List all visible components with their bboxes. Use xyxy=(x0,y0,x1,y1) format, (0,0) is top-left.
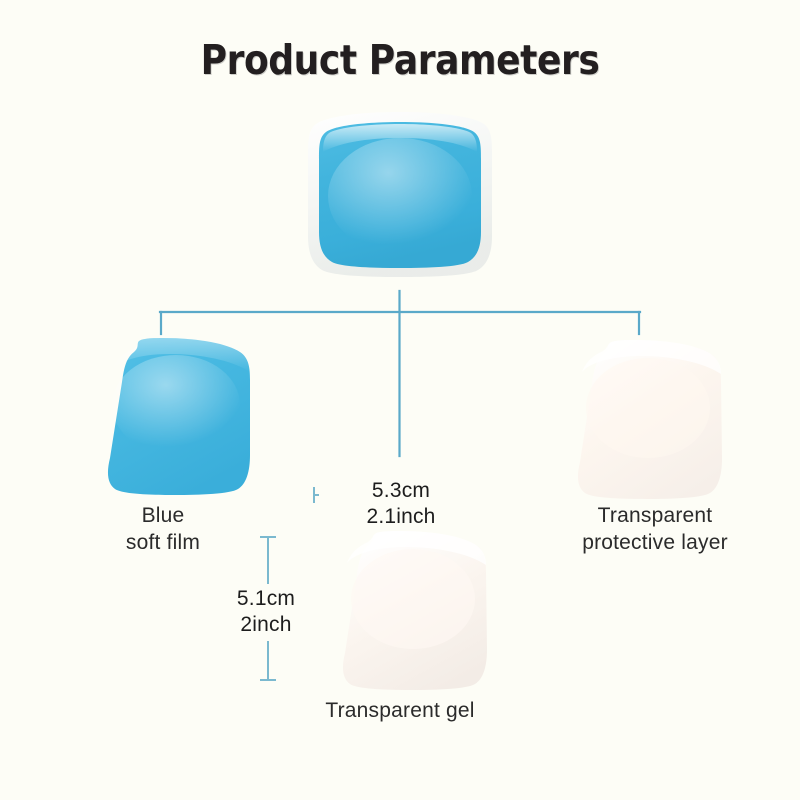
transparent-protective-layer-shape xyxy=(578,340,722,499)
diagram-artwork xyxy=(0,0,800,800)
width-dimension-label: 5.3cm 2.1inch xyxy=(319,478,483,531)
label-blue-soft-film: Blue soft film xyxy=(38,503,288,557)
transparent-gel-shape xyxy=(343,531,487,690)
blue-soft-film-shape xyxy=(108,338,250,495)
product-parameters-diagram: Product Parameters xyxy=(0,0,800,800)
label-transparent-gel: Transparent gel xyxy=(275,698,525,725)
assembled-product-shape xyxy=(308,112,492,277)
height-dimension-label: 5.1cm 2inch xyxy=(210,584,322,641)
label-transparent-protective-layer: Transparent protective layer xyxy=(530,503,780,557)
